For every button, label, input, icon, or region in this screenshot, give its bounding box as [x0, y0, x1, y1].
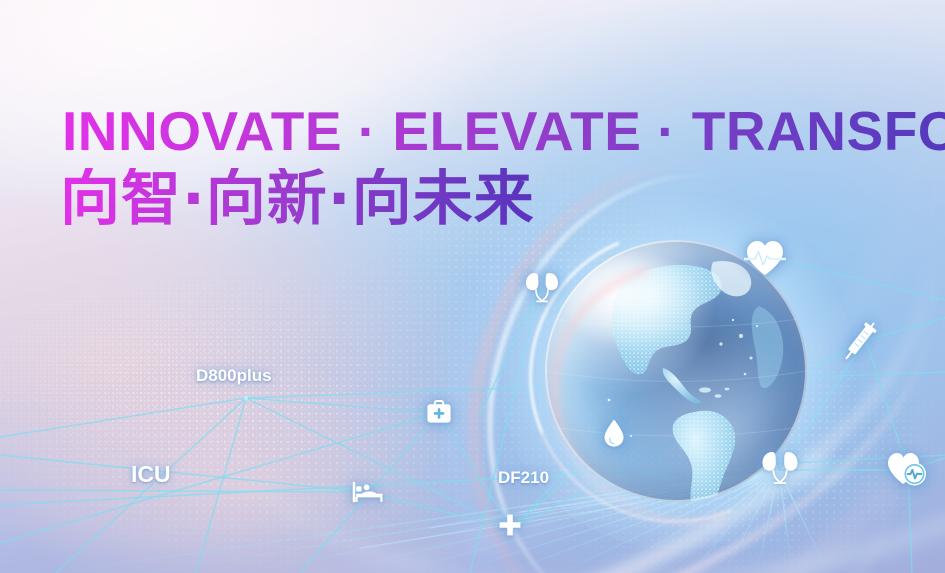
page-subtitle: 向智·向新·向未来	[60, 168, 535, 231]
page-title: INNOVATE · ELEVATE · TRANSFORM	[62, 104, 945, 159]
kidneys-icon	[760, 449, 800, 485]
label-d800plus: D800plus	[196, 366, 272, 386]
hospital-bed-icon	[352, 480, 384, 504]
heart-monitor-icon	[886, 450, 928, 488]
label-icu: ICU	[131, 461, 171, 488]
medical-bag-icon	[426, 400, 452, 424]
medical-cross-icon	[498, 513, 522, 537]
heart-pulse-icon	[744, 239, 786, 277]
label-df210: DF210	[498, 468, 549, 488]
water-drop-icon	[602, 418, 626, 448]
kidneys-icon	[524, 270, 560, 304]
promotional-banner: INNOVATE · ELEVATE · TRANSFORM 向智·向新·向未来…	[0, 0, 945, 573]
